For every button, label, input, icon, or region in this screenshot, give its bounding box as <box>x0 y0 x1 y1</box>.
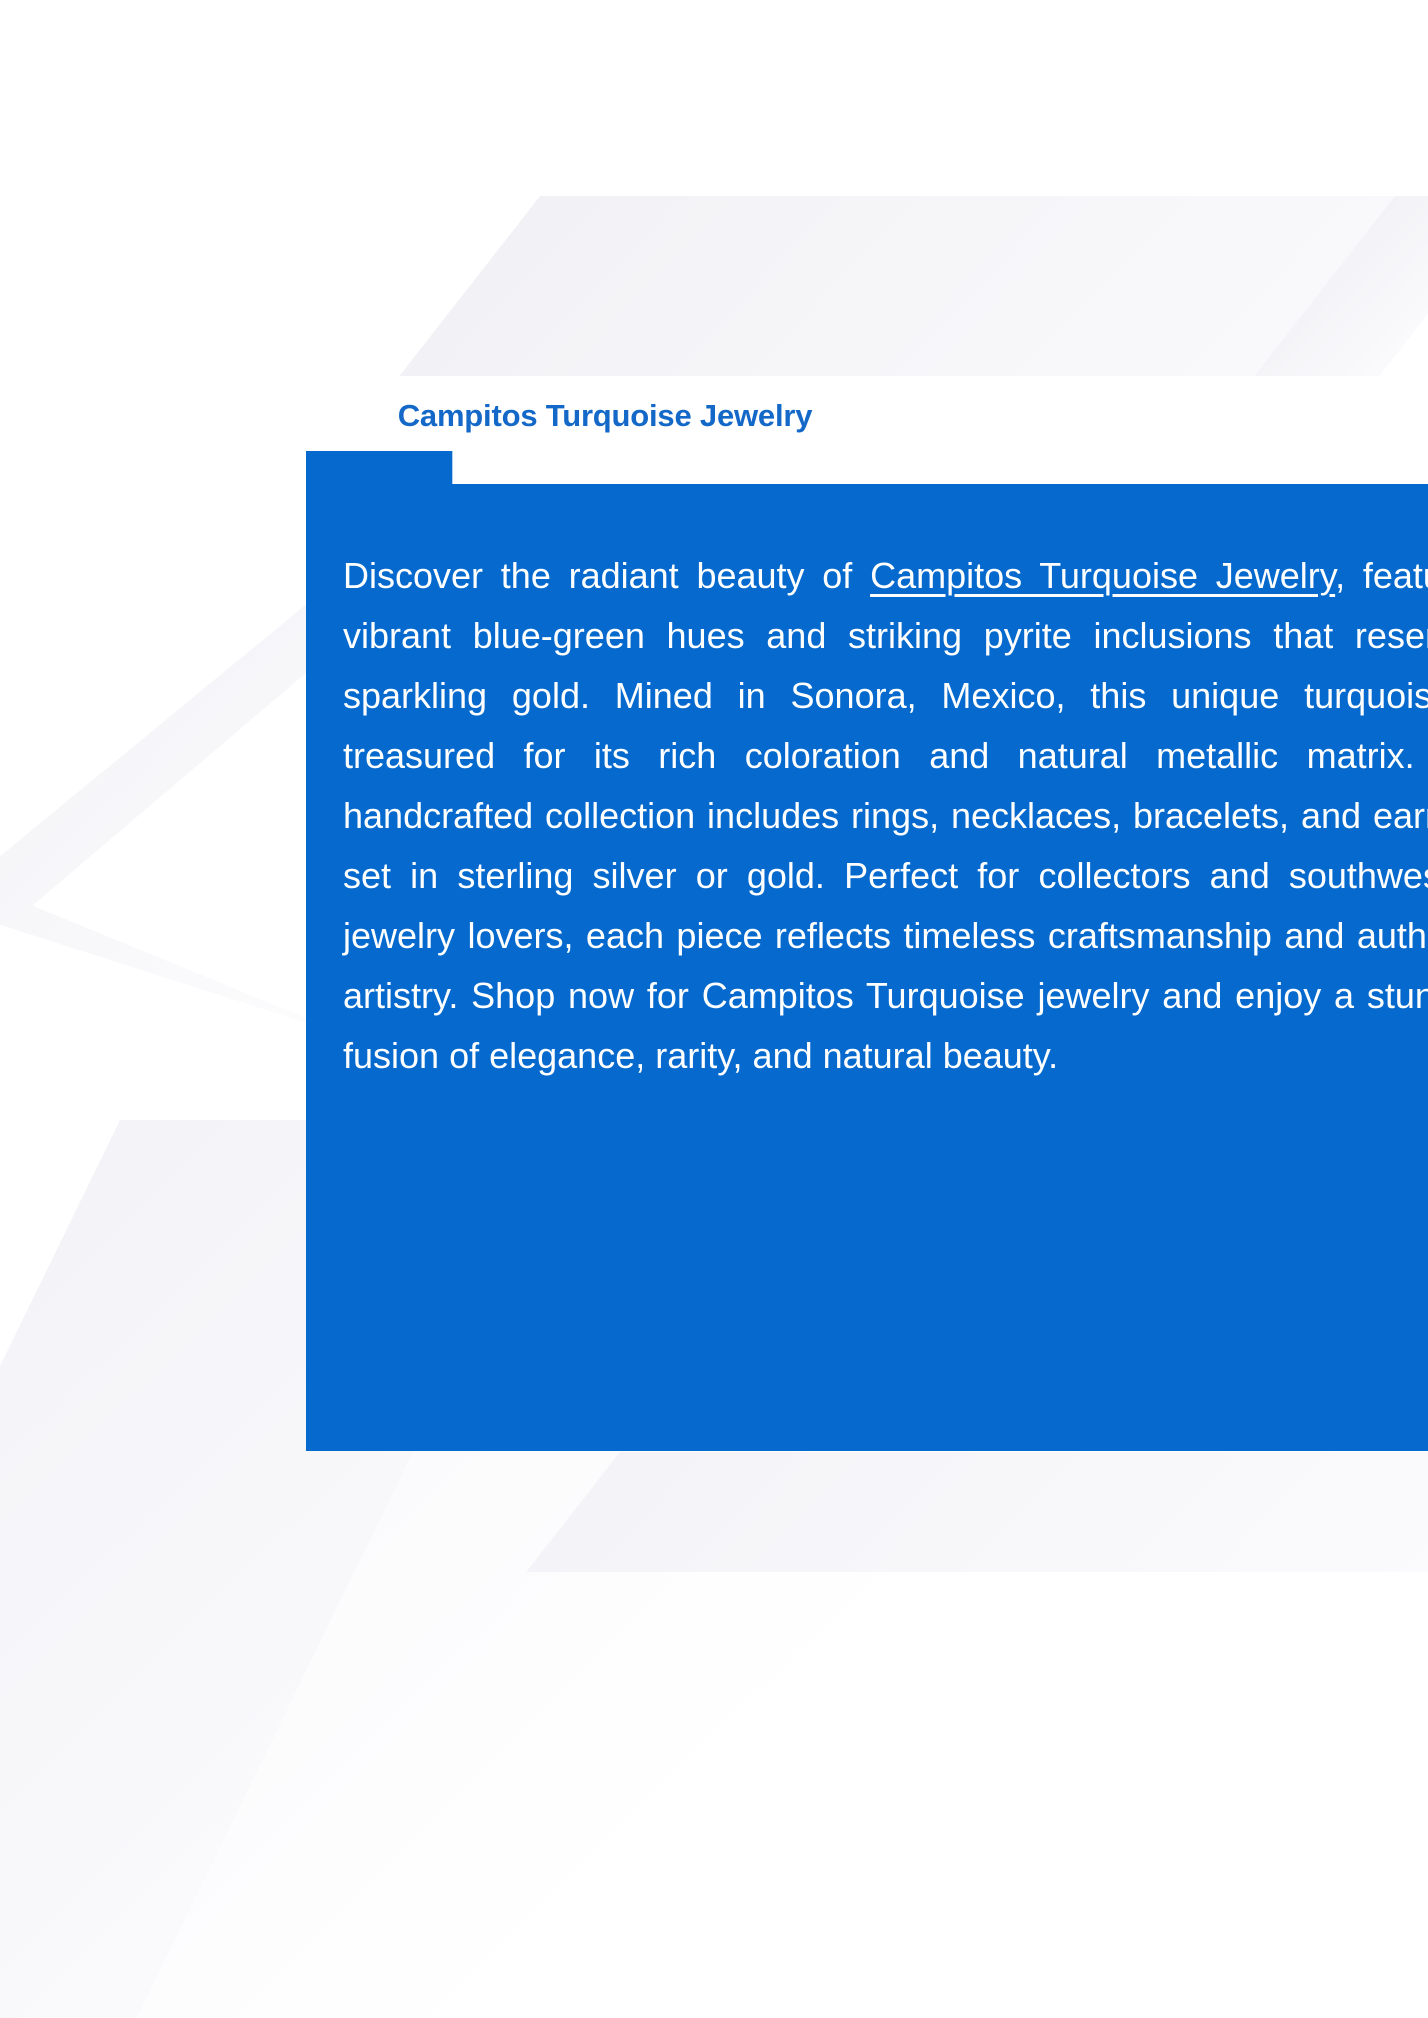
decorative-band-top-sliver-icon <box>1254 196 1428 376</box>
content-panel-body: Discover the radiant beauty of Campitos … <box>306 451 1428 1451</box>
description-paragraph: Discover the radiant beauty of Campitos … <box>343 546 1428 1086</box>
description-lead-text: Discover the radiant beauty of <box>343 555 870 596</box>
campitos-turquoise-jewelry-link[interactable]: Campitos Turquoise Jewelry <box>870 555 1335 596</box>
description-rest-text: , featuring vibrant blue-green hues and … <box>343 555 1428 1076</box>
decorative-band-top-icon <box>399 196 1428 376</box>
page-title: Campitos Turquoise Jewelry <box>0 398 1210 434</box>
content-panel: Discover the radiant beauty of Campitos … <box>306 451 1428 1451</box>
page-root: Campitos Turquoise Jewelry Discover the … <box>0 0 1428 2018</box>
decorative-underband-icon <box>526 1452 1428 1572</box>
